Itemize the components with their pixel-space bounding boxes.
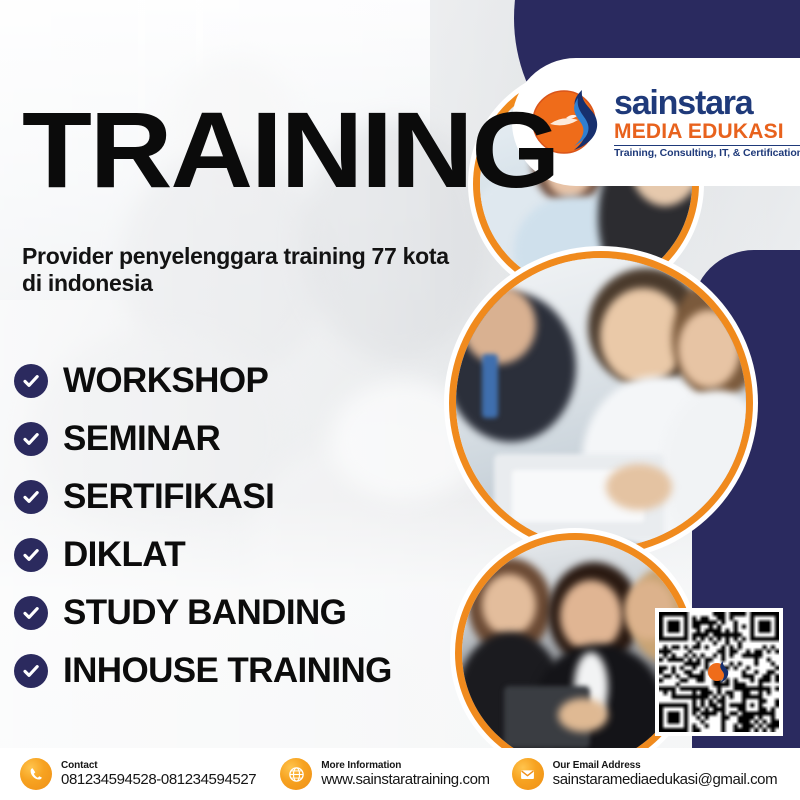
footer-contact-label: Contact xyxy=(61,760,256,771)
list-item-label: WORKSHOP xyxy=(63,361,268,401)
list-item: SERTIFIKASI xyxy=(14,468,484,526)
list-item: INHOUSE TRAINING xyxy=(14,642,484,700)
list-item: WORKSHOP xyxy=(14,352,484,410)
footer-website-label: More Information xyxy=(321,760,489,771)
check-circle-icon xyxy=(14,364,48,398)
footer-email-label: Our Email Address xyxy=(553,760,778,771)
service-list: WORKSHOP SEMINAR SERTIFIKASI DIKLAT STUD… xyxy=(14,352,484,700)
check-circle-icon xyxy=(14,538,48,572)
list-item-label: SEMINAR xyxy=(63,419,220,459)
footer-email[interactable]: Our Email Address sainstaramediaedukasi@… xyxy=(512,748,778,800)
list-item: STUDY BANDING xyxy=(14,584,484,642)
footer-website-value: www.sainstaratraining.com xyxy=(321,772,489,789)
list-item-label: SERTIFIKASI xyxy=(63,477,274,517)
footer-email-value: sainstaramediaedukasi@gmail.com xyxy=(553,772,778,789)
sainstara-mark-icon xyxy=(706,659,732,685)
check-circle-icon xyxy=(14,654,48,688)
list-item-label: STUDY BANDING xyxy=(63,593,346,633)
logo-name: sainstara xyxy=(614,86,800,120)
logo-divider xyxy=(614,145,800,147)
page-subtitle: Provider penyelenggara training 77 kota … xyxy=(22,243,472,297)
globe-icon xyxy=(280,758,312,790)
logo-tagline: Training, Consulting, IT, & Certificatio… xyxy=(614,148,800,159)
check-circle-icon xyxy=(14,596,48,630)
check-circle-icon xyxy=(14,422,48,456)
check-circle-icon xyxy=(14,480,48,514)
footer-contact-value: 081234594528-081234594527 xyxy=(61,772,256,789)
footer-contact[interactable]: Contact 081234594528-081234594527 xyxy=(20,748,256,800)
list-item-label: INHOUSE TRAINING xyxy=(63,651,392,691)
envelope-icon xyxy=(512,758,544,790)
footer-website[interactable]: More Information www.sainstaratraining.c… xyxy=(280,748,489,800)
qr-code[interactable] xyxy=(655,608,783,736)
photo-team-meeting-laptop xyxy=(456,258,746,548)
contact-footer: Contact 081234594528-081234594527 More I… xyxy=(0,748,800,800)
list-item-label: DIKLAT xyxy=(63,535,185,575)
logo-subtitle: MEDIA EDUKASI xyxy=(614,121,800,142)
list-item: SEMINAR xyxy=(14,410,484,468)
list-item: DIKLAT xyxy=(14,526,484,584)
training-poster: sainstara MEDIA EDUKASI Training, Consul… xyxy=(0,0,800,800)
page-title: TRAINING xyxy=(22,104,558,197)
phone-icon xyxy=(20,758,52,790)
